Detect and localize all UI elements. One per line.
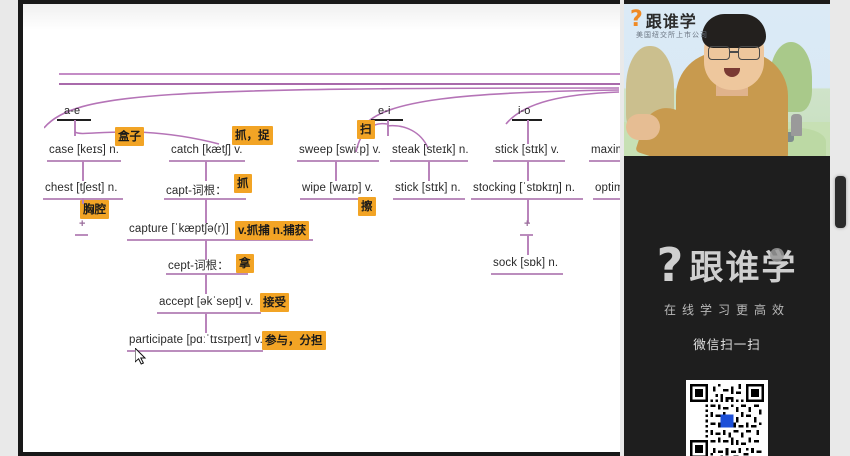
node-capture-text[interactable]: capture [ˈkæptʃə(r)] (129, 223, 229, 235)
mouse-pointer-cursor (135, 348, 147, 366)
node-participate-highlight[interactable]: 参与，分担 (262, 331, 326, 350)
node-catch-underline (169, 160, 245, 162)
node-capture-highlight[interactable]: v.抓捕 n.捕获 (235, 221, 309, 240)
node-wipe-meaning-highlight[interactable]: 擦 (358, 197, 376, 216)
node-case-text[interactable]: case [keɪs] n. (49, 144, 119, 156)
node-steak-text[interactable]: steak [steɪk] n. (392, 144, 469, 156)
node-capt-text[interactable]: capt-词根： (166, 182, 227, 198)
root-branch-line-1 (59, 73, 620, 75)
expander-chest-plus[interactable]: + (79, 220, 85, 228)
node-chest-text[interactable]: chest [tʃest] n. (45, 182, 118, 194)
node-accept-stem (205, 313, 207, 333)
video-brand-name: 跟谁学 (646, 8, 697, 32)
node-stick-n-underline (393, 198, 465, 200)
node-stocking-text[interactable]: stocking [ˈstɒkɪŋ] n. (473, 182, 575, 194)
node-stick-v-underline (493, 160, 565, 162)
node-accept-text[interactable]: accept [əkˈsept] v. (159, 296, 253, 308)
glasses-icon (708, 46, 760, 58)
mindmap-canvas[interactable]: a-e e-i i-o case [keɪs] n. 盒子 catch [kæt… (23, 4, 620, 452)
node-capt-stem (205, 199, 207, 223)
node-maximum-underline (589, 160, 620, 162)
expander-chest-underline (75, 234, 88, 236)
node-sweep-text[interactable]: sweep [swiːp] v. (299, 144, 381, 156)
node-chest-highlight[interactable]: 胸腔 (80, 200, 109, 219)
node-case-underline (47, 160, 121, 162)
teacher-hair (702, 14, 766, 48)
node-chest-stem (82, 198, 84, 204)
question-mark-icon-large: ? (657, 245, 684, 285)
panel-toggle-tab[interactable] (835, 176, 846, 228)
video-brand-subtitle: 美国纽交所上市公司 (636, 30, 708, 40)
teacher-video[interactable]: ? 跟谁学 美国纽交所上市公司 (624, 4, 830, 156)
node-accept-highlight[interactable]: 接受 (260, 293, 289, 312)
node-cept-text[interactable]: cept-词根： (168, 257, 229, 273)
node-wipe-text[interactable]: wipe [waɪp] v. (302, 182, 373, 194)
brand-name: 跟谁学 (689, 240, 797, 289)
node-sweep-underline (297, 160, 379, 162)
wechat-scan-hint: 微信扫一扫 (624, 334, 830, 353)
node-sock-text[interactable]: sock [sɒk] n. (493, 257, 558, 269)
right-panel: ? 跟谁学 美国纽交所上市公司 ? 跟谁学 在线学习更高效 微信扫一扫 (624, 0, 830, 456)
node-cept-highlight[interactable]: 拿 (236, 254, 254, 273)
screen-root: a-e e-i i-o case [keɪs] n. 盒子 catch [kæt… (0, 0, 850, 456)
node-catch-highlight[interactable]: 抓，捉 (232, 126, 273, 145)
node-case-highlight[interactable]: 盒子 (115, 127, 144, 146)
teacher-hand (626, 114, 660, 140)
video-control-dot[interactable] (770, 248, 784, 262)
node-steak-stem (428, 161, 430, 181)
brand-slogan: 在线学习更高效 (624, 301, 830, 318)
node-stick-n-text[interactable]: stick [stɪk] n. (395, 182, 461, 194)
node-sock-underline (491, 273, 563, 275)
node-optimum-text[interactable]: optimum (595, 182, 620, 194)
expander-stocking-plus[interactable]: + (524, 220, 530, 228)
root-branch-line-2 (59, 83, 620, 85)
node-catch-text[interactable]: catch [kætʃ] v. (171, 144, 243, 156)
brand-logo: ? 跟谁学 (624, 240, 830, 289)
node-catch-stem (205, 161, 207, 181)
node-cept-underline (166, 273, 248, 275)
brand-panel: ? 跟谁学 在线学习更高效 微信扫一扫 (624, 156, 830, 456)
qr-code-icon (690, 384, 764, 456)
node-accept-underline (157, 312, 261, 314)
question-mark-icon: ? (630, 10, 643, 30)
video-watermark-logo: ? 跟谁学 (630, 8, 697, 32)
background-person-grey-icon (791, 114, 802, 136)
node-stick-v-text[interactable]: stick [stɪk] v. (495, 144, 559, 156)
wechat-qr-code[interactable] (686, 380, 768, 456)
node-participate-text[interactable]: participate [pɑːˈtɪsɪpeɪt] v. (129, 334, 263, 346)
node-optimum-underline (593, 198, 620, 200)
node-cept-stem (205, 274, 207, 294)
node-sweep-stem (335, 161, 337, 181)
node-capt-highlight[interactable]: 抓 (234, 174, 252, 193)
node-maximum-text[interactable]: maximum (591, 144, 620, 156)
node-participate-underline (127, 350, 263, 352)
expander-stocking-stem (527, 235, 529, 255)
whiteboard-window: a-e e-i i-o case [keɪs] n. 盒子 catch [kæt… (18, 0, 620, 456)
node-case-stem (82, 161, 84, 181)
node-stick-v-stem (527, 161, 529, 181)
node-sweep-meaning-highlight[interactable]: 扫 (357, 120, 375, 139)
